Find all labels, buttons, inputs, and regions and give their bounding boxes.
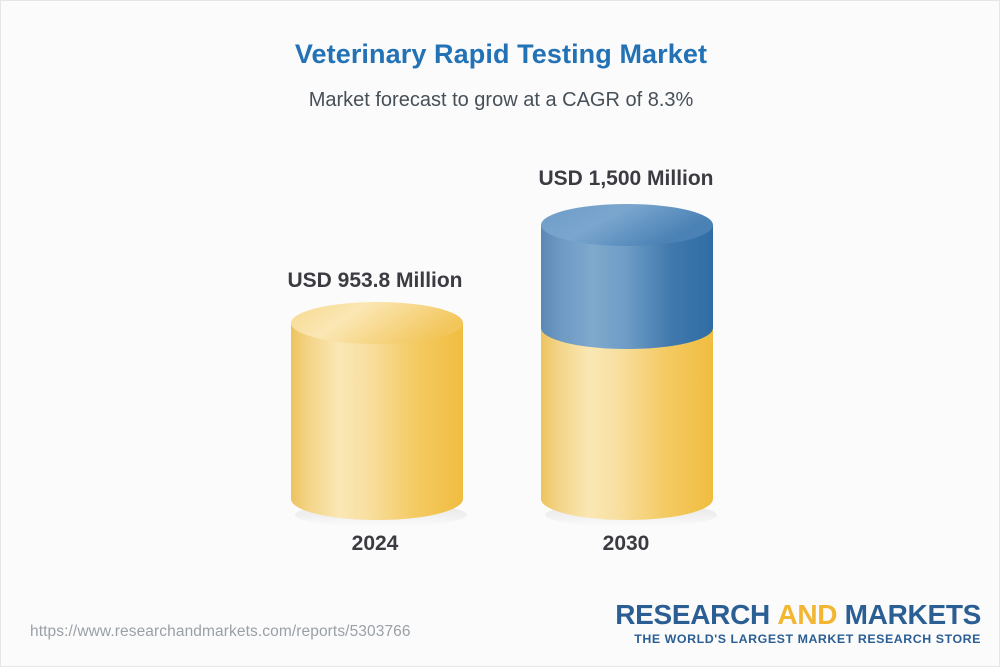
- source-url[interactable]: https://www.researchandmarkets.com/repor…: [30, 623, 411, 641]
- research-and-markets-logo[interactable]: RESEARCH AND MARKETS THE WORLD'S LARGEST…: [615, 601, 981, 646]
- logo-word-and: AND: [777, 599, 837, 630]
- logo-tagline: THE WORLD'S LARGEST MARKET RESEARCH STOR…: [615, 632, 981, 646]
- logo-word-research: RESEARCH: [615, 599, 770, 630]
- logo-space-2: [837, 599, 844, 630]
- bar-category-label-2030: 2030: [526, 532, 726, 556]
- bar-value-label-2030: USD 1,500 Million: [526, 167, 726, 191]
- bar-group-2030: USD 1,500 Million: [1, 1, 1000, 601]
- cylinder-bar-2030: [535, 196, 720, 526]
- logo-wordmark: RESEARCH AND MARKETS: [615, 601, 981, 629]
- plot-area: USD 953.8 Million: [1, 1, 1000, 601]
- chart-figure: Veterinary Rapid Testing Market Market f…: [0, 0, 1000, 667]
- logo-word-markets: MARKETS: [845, 599, 981, 630]
